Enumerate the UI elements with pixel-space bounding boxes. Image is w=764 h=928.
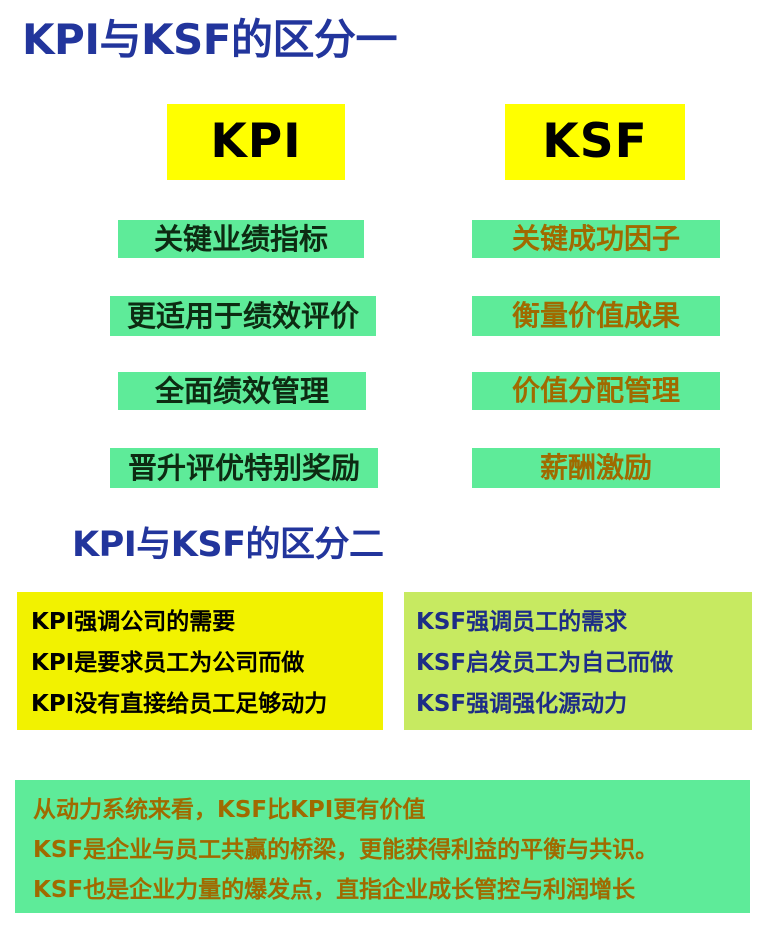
ksf-attribute-1: 关键成功因子 — [472, 220, 720, 258]
ksf-comparison-panel: KSF强调员工的需求 KSF启发员工为自己而做 KSF强调强化源动力 — [404, 592, 752, 730]
ksf-attribute-2: 衡量价值成果 — [472, 296, 720, 336]
ksf-attribute-4: 薪酬激励 — [472, 448, 720, 488]
kpi-attribute-4: 晋升评优特别奖励 — [110, 448, 378, 488]
column-header-ksf: KSF — [505, 104, 685, 180]
column-header-kpi: KPI — [167, 104, 345, 180]
kpi-comparison-line-3: KPI没有直接给员工足够动力 — [31, 684, 383, 725]
section-one-title: KPI与KSF的区分一 — [22, 16, 397, 64]
ksf-comparison-line-1: KSF强调员工的需求 — [416, 602, 752, 643]
kpi-attribute-3: 全面绩效管理 — [118, 372, 366, 410]
kpi-comparison-panel: KPI强调公司的需要 KPI是要求员工为公司而做 KPI没有直接给员工足够动力 — [17, 592, 383, 730]
ksf-comparison-line-3: KSF强调强化源动力 — [416, 684, 752, 725]
conclusion-line-1: 从动力系统来看，KSF比KPI更有价值 — [33, 790, 750, 830]
conclusion-line-3: KSF也是企业力量的爆发点，直指企业成长管控与利润增长 — [33, 870, 750, 910]
kpi-comparison-line-1: KPI强调公司的需要 — [31, 602, 383, 643]
conclusion-box: 从动力系统来看，KSF比KPI更有价值 KSF是企业与员工共赢的桥梁，更能获得利… — [15, 780, 750, 913]
kpi-attribute-1: 关键业绩指标 — [118, 220, 364, 258]
ksf-comparison-line-2: KSF启发员工为自己而做 — [416, 643, 752, 684]
kpi-comparison-line-2: KPI是要求员工为公司而做 — [31, 643, 383, 684]
section-two-title: KPI与KSF的区分二 — [72, 524, 384, 566]
kpi-attribute-2: 更适用于绩效评价 — [110, 296, 376, 336]
conclusion-line-2: KSF是企业与员工共赢的桥梁，更能获得利益的平衡与共识。 — [33, 830, 750, 870]
slide-canvas: KPI与KSF的区分一 KPI KSF 关键业绩指标 更适用于绩效评价 全面绩效… — [0, 0, 764, 928]
ksf-attribute-3: 价值分配管理 — [472, 372, 720, 410]
